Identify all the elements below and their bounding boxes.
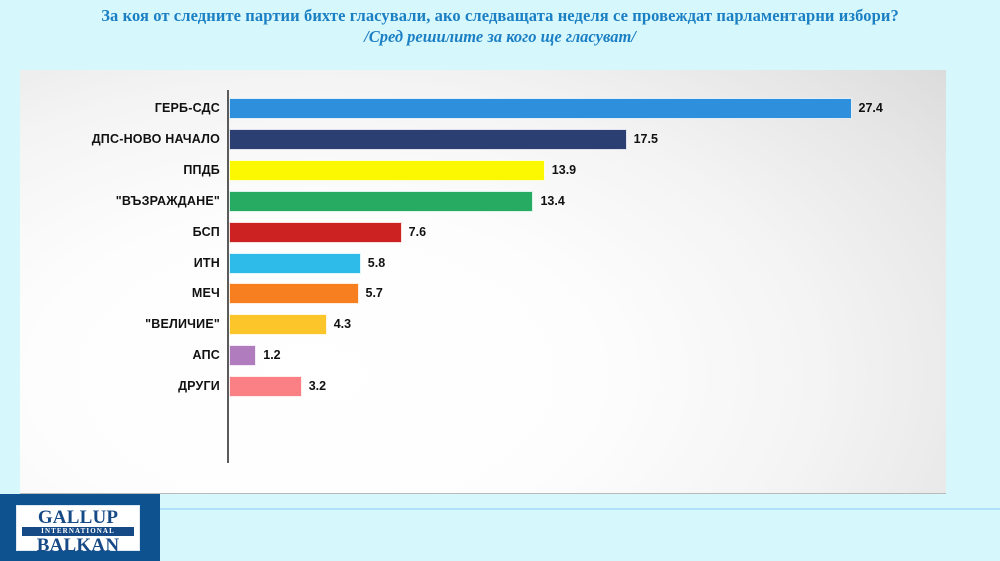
bar-row: ДРУГИ3.2 <box>20 371 946 402</box>
bar-chart-plot-area: ГЕРБ-СДС27.4ДПС-НОВО НАЧАЛО17.5ППДБ13.9"… <box>20 70 946 494</box>
bar-segment[interactable] <box>229 98 852 119</box>
bar-segment[interactable] <box>229 129 627 150</box>
chart-panel: ГЕРБ-СДС27.4ДПС-НОВО НАЧАЛО17.5ППДБ13.9"… <box>20 70 946 494</box>
bar-segment[interactable] <box>229 283 359 304</box>
page-title: За коя от следните партии бихте гласувал… <box>0 6 1000 26</box>
bar-category-label: ИТН <box>194 248 220 279</box>
bar-row: ДПС-НОВО НАЧАЛО17.5 <box>20 124 946 155</box>
bar-value-label: 13.9 <box>552 155 576 186</box>
bar-value-label: 4.3 <box>334 309 351 340</box>
page-subtitle: /Сред решилите за кого ще гласуват/ <box>0 26 1000 48</box>
bar-category-label: ППДБ <box>183 155 220 186</box>
bar-segment[interactable] <box>229 376 302 397</box>
bar-value-label: 7.6 <box>409 217 426 248</box>
bar-value-label: 17.5 <box>634 124 658 155</box>
bar-row: ИТН5.8 <box>20 248 946 279</box>
bar-row: МЕЧ5.7 <box>20 278 946 309</box>
bar-segment[interactable] <box>229 253 361 274</box>
bar-row: ППДБ13.9 <box>20 155 946 186</box>
bar-category-label: МЕЧ <box>192 278 220 309</box>
bar-value-label: 5.8 <box>368 248 385 279</box>
bar-segment[interactable] <box>229 345 256 366</box>
bar-value-label: 13.4 <box>540 186 564 217</box>
bar-category-label: "ВЪЗРАЖДАНЕ" <box>116 186 220 217</box>
bar-value-label: 1.2 <box>263 340 280 371</box>
bar-row: ГЕРБ-СДС27.4 <box>20 93 946 124</box>
bar-category-label: ДПС-НОВО НАЧАЛО <box>92 124 220 155</box>
bar-category-label: "ВЕЛИЧИЕ" <box>145 309 220 340</box>
bar-category-label: БСП <box>193 217 220 248</box>
bar-row: "ВЕЛИЧИЕ"4.3 <box>20 309 946 340</box>
bar-segment[interactable] <box>229 222 402 243</box>
bar-row: "ВЪЗРАЖДАНЕ"13.4 <box>20 186 946 217</box>
gallup-logo: GALLUP INTERNATIONAL BALKAN <box>16 505 140 551</box>
bar-value-label: 3.2 <box>309 371 326 402</box>
bar-category-label: ГЕРБ-СДС <box>155 93 220 124</box>
bar-segment[interactable] <box>229 160 545 181</box>
bar-segment[interactable] <box>229 314 327 335</box>
footer-divider <box>160 508 1000 510</box>
bar-value-label: 27.4 <box>859 93 883 124</box>
bar-category-label: АПС <box>193 340 220 371</box>
bar-row: БСП7.6 <box>20 217 946 248</box>
bar-category-label: ДРУГИ <box>178 371 220 402</box>
logo-balkan-text: BALKAN <box>17 537 139 555</box>
title-block: За коя от следните партии бихте гласувал… <box>0 6 1000 48</box>
gallup-logo-block: GALLUP INTERNATIONAL BALKAN <box>0 494 160 561</box>
bar-value-label: 5.7 <box>366 278 383 309</box>
logo-gallup-text: GALLUP <box>17 509 139 526</box>
bar-row: АПС1.2 <box>20 340 946 371</box>
bar-segment[interactable] <box>229 191 533 212</box>
